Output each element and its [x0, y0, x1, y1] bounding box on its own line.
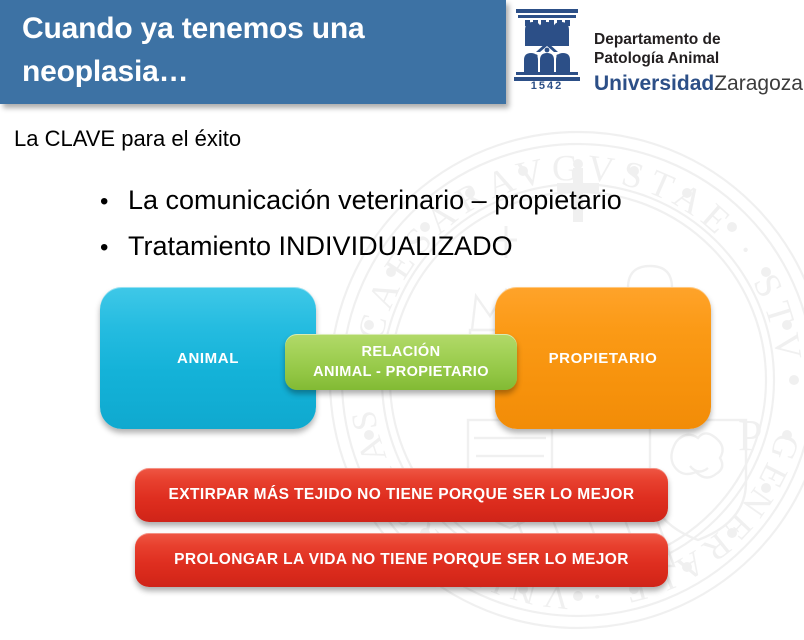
list-item: • Tratamiento INDIVIDUALIZADO: [100, 224, 780, 270]
svg-text:P: P: [738, 411, 762, 460]
logo-department-line-1: Departamento de: [594, 30, 803, 49]
slide-title-band: Cuando ya tenemos una neoplasia…: [0, 0, 506, 104]
university-logo: 1542 Departamento de Patología Animal Un…: [512, 6, 804, 104]
bullet-marker-icon: •: [100, 225, 128, 270]
logo-university-name: UniversidadZaragoza: [594, 71, 803, 96]
diagram-box-relacion: RELACIÓN ANIMAL - PROPIETARIO: [285, 334, 517, 390]
slide-subtitle: La CLAVE para el éxito: [14, 126, 241, 152]
diagram-box-propietario-label: PROPIETARIO: [549, 350, 658, 367]
diagram-box-animal-label: ANIMAL: [177, 350, 239, 367]
bullet-text: La comunicación veterinario – propietari…: [128, 178, 622, 223]
diagram-box-relacion-label: RELACIÓN ANIMAL - PROPIETARIO: [313, 342, 489, 382]
university-building-emblem: 1542: [512, 6, 582, 98]
page-title: Cuando ya tenemos una neoplasia…: [22, 7, 492, 93]
logo-text-block: Departamento de Patología Animal Univers…: [594, 6, 803, 96]
statement-box-extirpar: EXTIRPAR MÁS TEJIDO NO TIENE PORQUE SER …: [135, 468, 668, 522]
bullet-text: Tratamiento INDIVIDUALIZADO: [128, 224, 513, 269]
statement-box-extirpar-label: EXTIRPAR MÁS TEJIDO NO TIENE PORQUE SER …: [169, 486, 635, 504]
logo-university-bold: Universidad: [594, 72, 714, 95]
bullet-marker-icon: •: [100, 179, 128, 224]
logo-university-plain: Zaragoza: [714, 72, 803, 95]
diagram-box-animal: ANIMAL: [100, 287, 316, 429]
logo-department-line-2: Patología Animal: [594, 49, 803, 68]
bullet-list: • La comunicación veterinario – propieta…: [100, 178, 780, 270]
building-icon: [512, 6, 582, 82]
diagram-box-propietario: PROPIETARIO: [495, 287, 711, 429]
statement-box-prolongar-label: PROLONGAR LA VIDA NO TIENE PORQUE SER LO…: [174, 551, 629, 569]
logo-founding-year: 1542: [512, 80, 582, 92]
statement-box-prolongar: PROLONGAR LA VIDA NO TIENE PORQUE SER LO…: [135, 533, 668, 587]
list-item: • La comunicación veterinario – propieta…: [100, 178, 780, 224]
